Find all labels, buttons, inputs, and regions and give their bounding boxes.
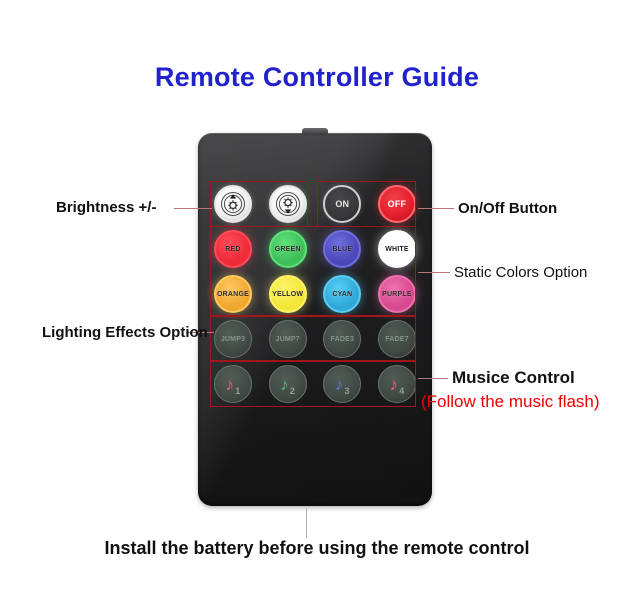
annotation-static-colors: Static Colors Option <box>454 264 587 281</box>
leader-line-music <box>418 378 448 379</box>
music-button-2[interactable]: ♪ 2 <box>269 365 307 403</box>
effect-button-jump3[interactable]: JUMP3 <box>214 320 252 358</box>
music-note-icon: ♪ <box>390 376 399 393</box>
annotation-music-control: Musice Control <box>452 368 575 388</box>
remote-control-body: ON OFF RED GREEN BLUE WHITE ORANGE YELLO… <box>198 133 432 506</box>
color-button-green[interactable]: GREEN <box>269 230 307 268</box>
on-button[interactable]: ON <box>323 185 361 223</box>
brightness-down-button[interactable] <box>269 185 307 223</box>
color-button-white[interactable]: WHITE <box>378 230 416 268</box>
music-note-icon: ♪ <box>280 376 289 393</box>
annotation-lighting-effects: Lighting Effects Option <box>42 324 208 341</box>
annotation-on-off: On/Off Button <box>458 200 557 217</box>
music-button-4[interactable]: ♪ 4 <box>378 365 416 403</box>
color-button-purple[interactable]: PURPLE <box>378 275 416 313</box>
leader-line-brightness <box>174 208 212 209</box>
annotation-music-control-subtitle: (Follow the music flash) <box>421 392 600 412</box>
music-button-3[interactable]: ♪ 3 <box>323 365 361 403</box>
color-button-yellow[interactable]: YELLOW <box>269 275 307 313</box>
off-button[interactable]: OFF <box>378 185 416 223</box>
sun-down-icon <box>275 191 301 217</box>
color-button-red[interactable]: RED <box>214 230 252 268</box>
brightness-up-button[interactable] <box>214 185 252 223</box>
music-note-icon: ♪ <box>226 376 235 393</box>
effect-button-fade3[interactable]: FADE3 <box>323 320 361 358</box>
page-title: Remote Controller Guide <box>0 62 634 93</box>
color-button-cyan[interactable]: CYAN <box>323 275 361 313</box>
bottom-caption: Install the battery before using the rem… <box>0 538 634 559</box>
music-note-icon: ♪ <box>335 376 344 393</box>
button-row-effects: JUMP3 JUMP7 FADE3 FADE7 <box>214 320 416 358</box>
leader-line-static <box>418 272 450 273</box>
color-button-blue[interactable]: BLUE <box>323 230 361 268</box>
color-button-orange[interactable]: ORANGE <box>214 275 252 313</box>
button-row-colors-2: ORANGE YELLOW CYAN PURPLE <box>214 275 416 313</box>
button-row-colors-1: RED GREEN BLUE WHITE <box>214 230 416 268</box>
effect-button-jump7[interactable]: JUMP7 <box>269 320 307 358</box>
music-button-1[interactable]: ♪ 1 <box>214 365 252 403</box>
button-row-music: ♪ 1 ♪ 2 ♪ 3 ♪ 4 <box>214 365 416 403</box>
leader-line-onoff <box>418 208 454 209</box>
button-row-power: ON OFF <box>214 185 416 223</box>
music-button-number: 2 <box>290 386 295 396</box>
music-button-number: 3 <box>345 386 350 396</box>
sun-up-icon <box>220 191 246 217</box>
leader-line-battery <box>306 508 307 538</box>
effect-button-fade7[interactable]: FADE7 <box>378 320 416 358</box>
music-button-number: 4 <box>399 386 404 396</box>
ir-emitter-icon <box>302 128 328 135</box>
music-button-number: 1 <box>235 386 240 396</box>
annotation-brightness: Brightness +/- <box>56 199 156 216</box>
